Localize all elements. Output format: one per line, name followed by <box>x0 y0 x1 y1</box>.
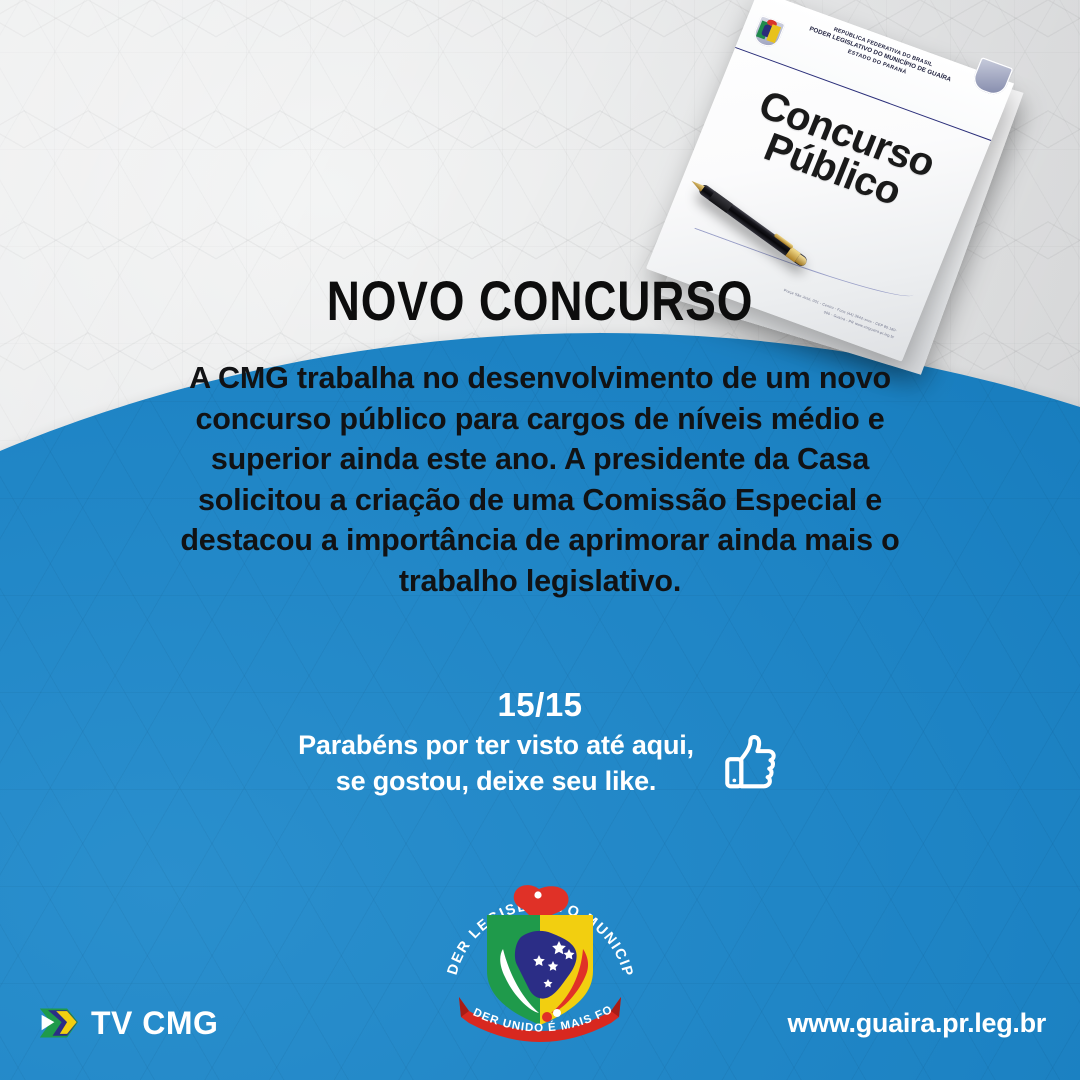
slide-counter: 15/15 <box>0 686 1080 724</box>
brasao-guaira-icon <box>751 15 786 50</box>
like-call-to-action: Parabéns por ter visto até aqui, se gost… <box>0 728 1080 799</box>
shield-shape <box>487 915 593 1025</box>
body-paragraph: A CMG trabalha no desenvolvimento de um … <box>150 358 930 601</box>
like-text: Parabéns por ter visto até aqui, se gost… <box>298 728 694 799</box>
page-title: NOVO CONCURSO <box>97 268 983 333</box>
letterhead-text: REPÚBLICA FEDERATIVA DO BRASIL PODER LEG… <box>796 16 964 95</box>
concurso-document-photo: REPÚBLICA FEDERATIVA DO BRASIL PODER LEG… <box>666 0 1080 392</box>
tv-cmg-logo[interactable]: TV CMG <box>36 1003 218 1043</box>
website-url[interactable]: www.guaira.pr.leg.br <box>787 1008 1046 1039</box>
thumbs-up-icon[interactable] <box>720 733 782 795</box>
brasao-parana-icon <box>970 57 1014 98</box>
brasao-camara-guaira-emblem: PODER LEGISLATIVO MUNICIPAL <box>435 845 645 1055</box>
social-post-card: REPÚBLICA FEDERATIVA DO BRASIL PODER LEG… <box>0 0 1080 1080</box>
tv-cmg-label: TV CMG <box>91 1005 218 1042</box>
letterhead-line-2: PODER LEGISLATIVO DO MUNICÍPIO DE GUAÍRA <box>798 22 961 88</box>
tv-cmg-play-icon <box>36 1003 80 1043</box>
